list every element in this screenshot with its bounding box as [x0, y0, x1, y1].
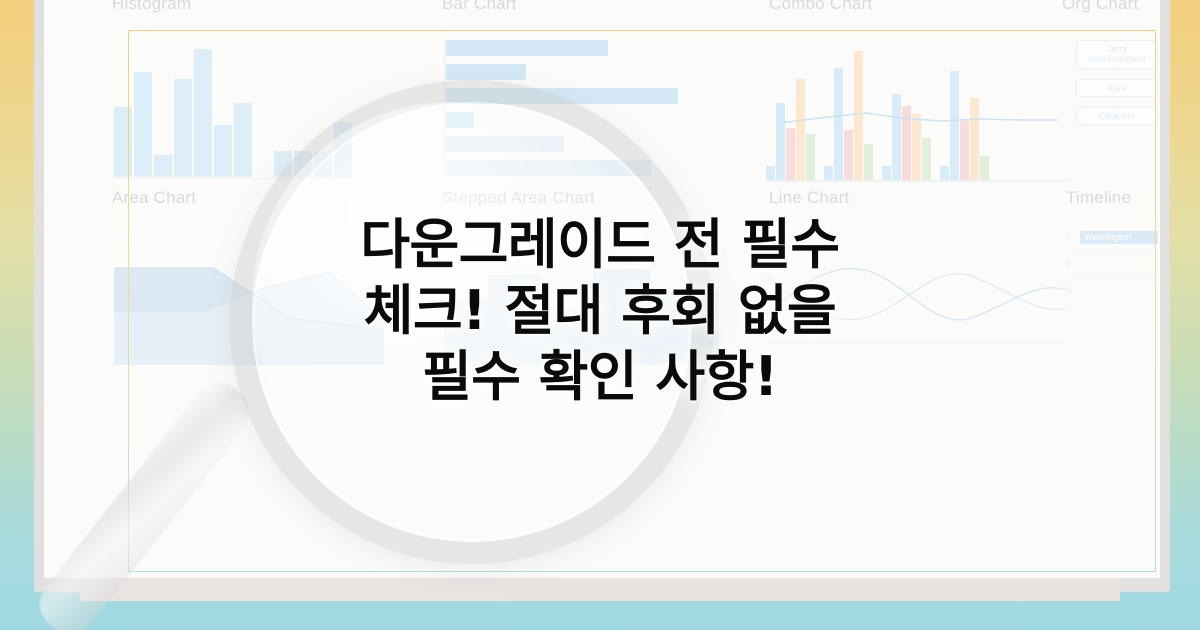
org-connector — [1114, 97, 1115, 107]
chart-histogram — [114, 37, 374, 177]
screen-stand-front — [500, 575, 1120, 601]
panel-title-histogram: Histogram — [112, 0, 191, 14]
chart-combo — [766, 40, 1066, 180]
org-node-name: Jerry — [1107, 44, 1127, 54]
histogram-bar — [334, 122, 352, 177]
histogram-bar — [174, 79, 192, 177]
panel-title-combo-chart: Combo Chart — [769, 0, 872, 14]
histogram-bar — [234, 103, 252, 177]
org-connector — [1114, 69, 1115, 79]
histogram-bar — [274, 151, 292, 177]
histogram-bar — [194, 49, 212, 177]
org-node-name: Kent — [1108, 83, 1127, 93]
panel-title-area-chart: Area Chart — [112, 188, 196, 208]
panel-title-line-chart: Line Chart — [769, 188, 849, 208]
bar-chart-axis — [444, 40, 445, 180]
org-node: Kent — [1076, 79, 1158, 97]
panel-title-stepped-area-chart: Stepped Area Chart — [442, 188, 595, 208]
combo-axis — [766, 180, 1066, 182]
combo-line-overlay — [766, 40, 1066, 180]
bar-chart-bar — [446, 88, 678, 104]
panel-title-timeline: Timeline — [1066, 188, 1131, 208]
org-node: Cleaners — [1076, 107, 1158, 125]
bar-chart-bar — [446, 136, 564, 152]
histogram-bar — [314, 151, 332, 177]
poster-canvas: Histogram Bar Chart Combo Chart Org Char… — [0, 0, 1200, 630]
histogram-bar — [114, 107, 132, 177]
chart-bar — [444, 40, 719, 180]
org-node-role: Vice President — [1088, 54, 1146, 64]
page-title: 다운그레이드 전 필수 체크! 절대 후회 없을 필수 확인 사항! — [0, 212, 1200, 410]
histogram-axis — [114, 178, 374, 179]
org-node-name: Cleaners — [1099, 111, 1135, 121]
org-node: Jerry Vice President — [1076, 40, 1158, 69]
histogram-bar — [134, 72, 152, 177]
chart-org: Jerry Vice President Kent Cleaners — [1066, 40, 1158, 180]
panel-title-org-chart: Org Chart — [1062, 0, 1138, 14]
histogram-bar — [294, 151, 312, 177]
bar-chart-bar — [446, 40, 608, 56]
histogram-bar — [214, 125, 232, 177]
bar-chart-bar — [446, 112, 474, 128]
histogram-bar — [154, 155, 172, 177]
bar-chart-bar — [446, 160, 651, 176]
bar-chart-bar — [446, 64, 526, 80]
panel-title-bar-chart: Bar Chart — [442, 0, 517, 14]
